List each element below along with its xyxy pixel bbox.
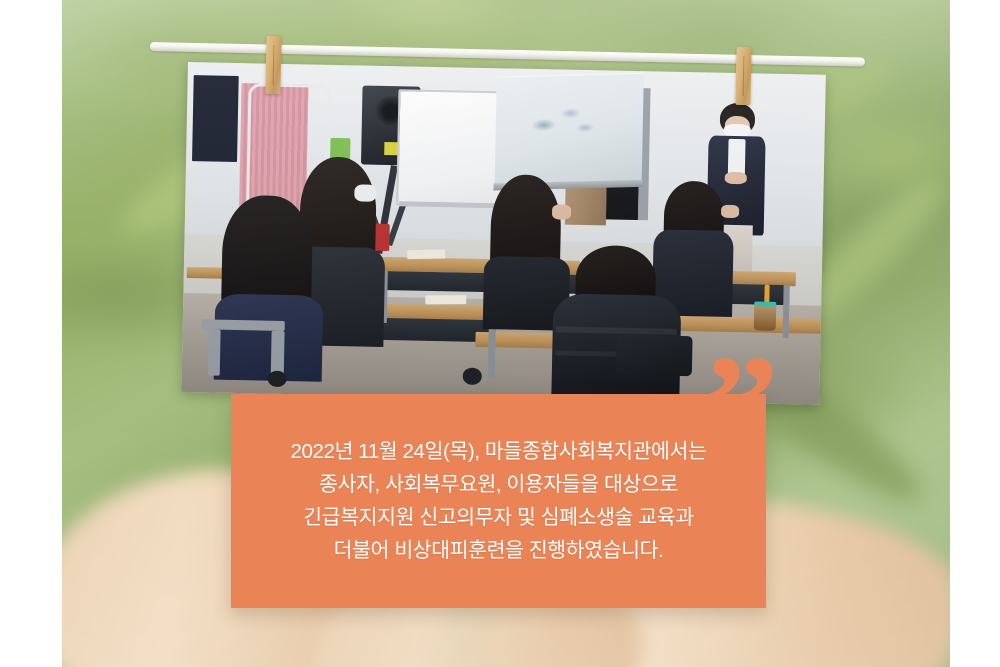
classroom-photo	[181, 62, 825, 405]
presenter-shirt	[728, 139, 745, 176]
drink-cup	[754, 301, 776, 331]
caption-card: 2022년 11월 24일(목), 마들종합사회복지관에서는 종사자, 사회복무…	[231, 394, 766, 608]
desk-notebook	[426, 295, 468, 304]
wall-monitor	[192, 75, 238, 162]
desk-bag	[616, 335, 693, 376]
slide-graphic	[518, 95, 602, 150]
desk-papers	[407, 250, 445, 259]
chair-leg	[207, 330, 221, 376]
poster-canvas: ” 2022년 11월 24일(목), 마들종합사회복지관에서는 종사자, 사회…	[0, 0, 1000, 667]
caption-line-4: 더불어 비상대피훈련을 진행하였습니다.	[334, 534, 664, 567]
attendee-second-mask	[354, 184, 376, 202]
desk-leg	[782, 285, 789, 338]
clothespin-left	[265, 36, 281, 94]
caption-line-3: 긴급복지지원 신고의무자 및 심폐소생술 교육과	[303, 501, 693, 534]
clothespin-right	[735, 47, 751, 105]
attendee-front-body	[214, 294, 324, 382]
attendee-middle-hand	[552, 205, 571, 220]
caption-line-1: 2022년 11월 24일(목), 마들종합사회복지관에서는	[291, 435, 707, 468]
caption-line-2: 종사자, 사회복무요원, 이용자들을 대상으로	[319, 468, 678, 501]
attendee-right-hand	[721, 205, 739, 219]
presenter-hands	[725, 172, 747, 184]
chair-caster	[462, 368, 481, 385]
